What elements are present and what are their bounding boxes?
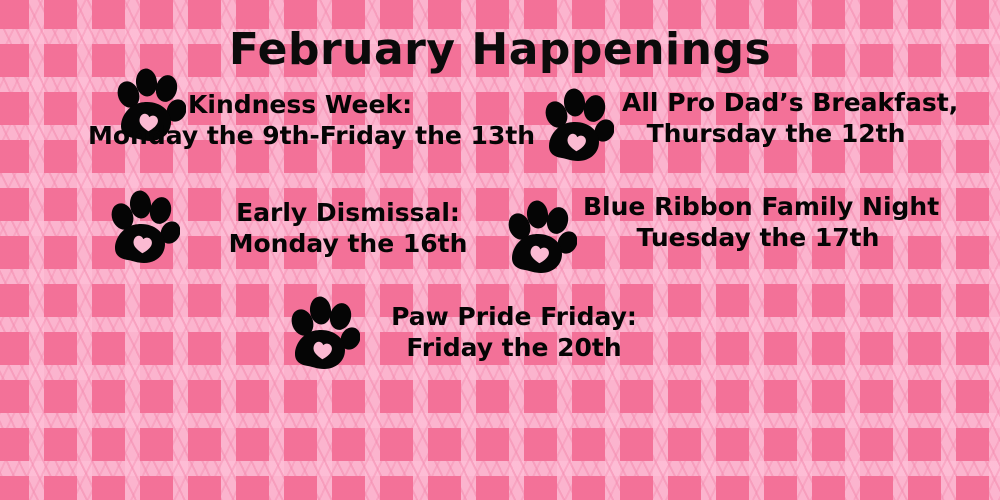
event-line-2: Monday the 16th: [188, 229, 508, 260]
event-text-allpro: All Pro Dad’s Breakfast, Thursday the 12…: [532, 88, 932, 149]
paw-print-heart-icon: [288, 296, 360, 374]
event-line-1: Blue Ribbon Family Night: [583, 192, 933, 223]
event-text-pawpride: Paw Pride Friday: Friday the 20th: [364, 302, 664, 363]
event-line-1: Early Dismissal:: [188, 198, 508, 229]
paw-print-heart-icon: [505, 200, 577, 278]
event-line-2: Friday the 20th: [364, 333, 664, 364]
poster-content: February Happenings Kindness Week: M: [0, 0, 1000, 500]
event-line-1: Paw Pride Friday:: [364, 302, 664, 333]
paw-print-heart-icon: [108, 190, 180, 268]
event-line-1: Kindness Week:: [88, 90, 488, 121]
event-text-dismissal: Early Dismissal: Monday the 16th: [188, 198, 508, 259]
page-title: February Happenings: [0, 28, 1000, 72]
event-line-2: Tuesday the 17th: [583, 223, 933, 254]
february-happenings-poster: February Happenings Kindness Week: M: [0, 0, 1000, 500]
event-line-2: Monday the 9th-Friday the 13th: [88, 121, 488, 152]
event-line-2: Thursday the 12th: [532, 119, 932, 150]
event-text-blueribbon: Blue Ribbon Family Night Tuesday the 17t…: [583, 192, 933, 253]
event-line-1: All Pro Dad’s Breakfast,: [532, 88, 932, 119]
event-text-kindness: Kindness Week: Monday the 9th-Friday the…: [88, 90, 488, 151]
